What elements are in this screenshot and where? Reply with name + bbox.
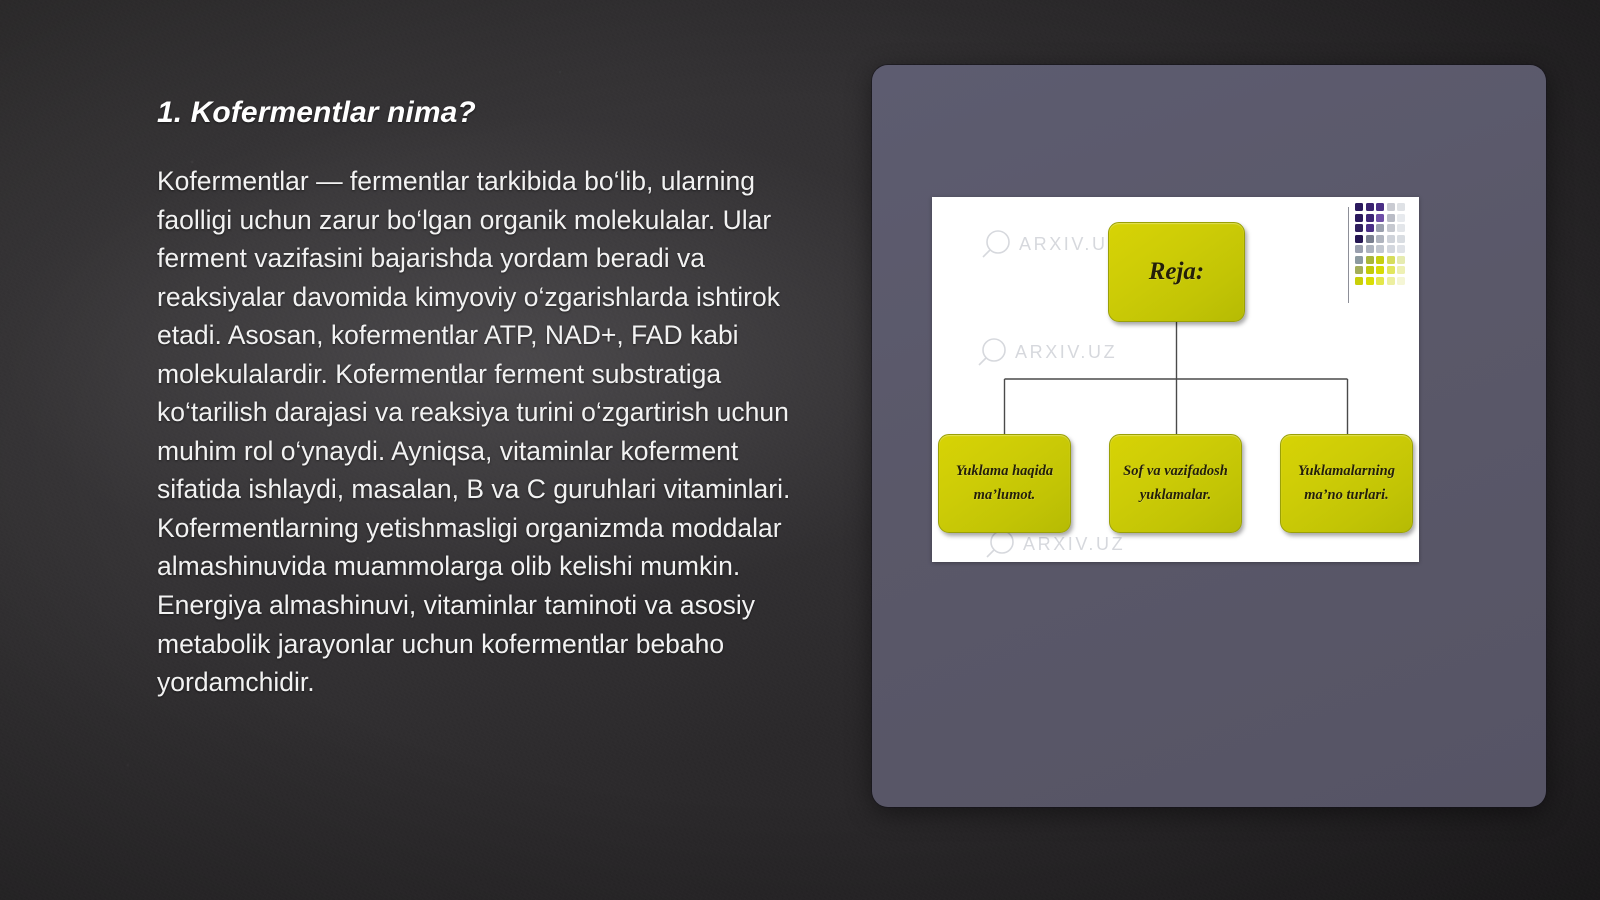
- node-label: Reja:: [1149, 258, 1205, 286]
- org-chart-child-node[interactable]: Yuklama haqida ma’lumot.: [938, 434, 1071, 533]
- org-chart-child-node[interactable]: Sof va vazifadosh yuklamalar.: [1109, 434, 1242, 533]
- page-title: 1. Kofermentlar nima?: [157, 96, 829, 130]
- org-chart-root-node[interactable]: Reja:: [1108, 222, 1245, 322]
- org-chart-child-node[interactable]: Yuklamalarning ma’no turlari.: [1280, 434, 1413, 533]
- node-label: Sof va vazifadosh yuklamalar.: [1116, 460, 1235, 507]
- org-chart: Reja: Yuklama haqida ma’lumot. Sof va va…: [932, 197, 1419, 562]
- body-paragraph: Kofermentlar — fermentlar tarkibida bo‘l…: [157, 162, 829, 702]
- slide-canvas[interactable]: ARXIV.UZ ARXIV.UZ ARXIV.UZ: [932, 197, 1419, 562]
- node-label: Yuklamalarning ma’no turlari.: [1287, 460, 1406, 507]
- slide-viewer-panel[interactable]: ARXIV.UZ ARXIV.UZ ARXIV.UZ: [872, 65, 1546, 807]
- node-label: Yuklama haqida ma’lumot.: [945, 460, 1064, 507]
- text-column: 1. Kofermentlar nima? Kofermentlar — fer…: [157, 96, 829, 702]
